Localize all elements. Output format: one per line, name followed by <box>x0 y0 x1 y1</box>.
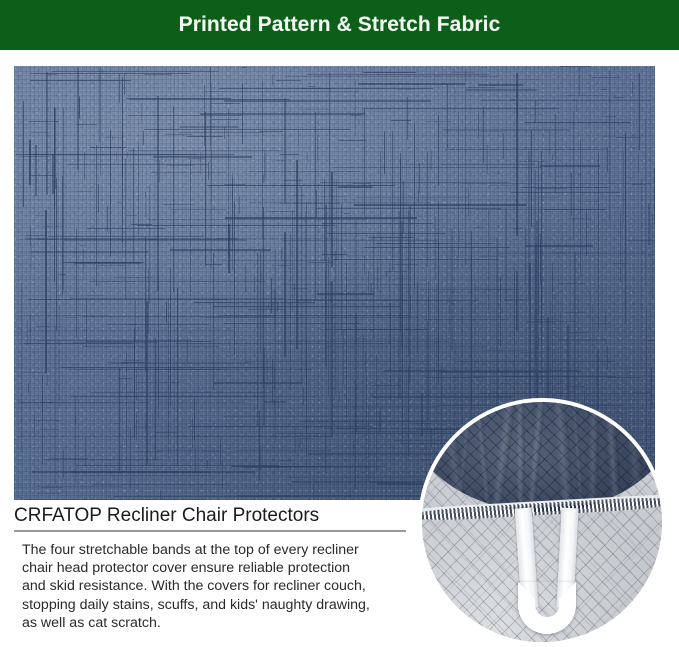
banner-title: Printed Pattern & Stretch Fabric <box>179 13 501 37</box>
caption-divider <box>14 530 406 532</box>
caption-title: CRFATOP Recliner Chair Protectors <box>14 505 406 530</box>
strap-loop-bottom <box>518 582 576 634</box>
fold-crease <box>472 398 493 512</box>
caption-line: chair head protector cover ensure reliab… <box>22 559 398 577</box>
caption-body: The four stretchable bands at the top of… <box>22 541 398 632</box>
fold-crease <box>587 398 600 512</box>
caption-line: stopping daily stains, scuffs, and kids'… <box>22 596 398 614</box>
fold-crease <box>516 398 526 512</box>
caption-line: The four stretchable bands at the top of… <box>22 541 398 559</box>
fold-crease <box>526 398 548 512</box>
closeup-elastic-strap <box>518 508 582 634</box>
caption-line: and skid resistance. With the covers for… <box>22 577 398 595</box>
fold-crease <box>424 398 433 512</box>
banner: Printed Pattern & Stretch Fabric <box>0 0 679 50</box>
fold-crease <box>602 398 623 512</box>
elastic-strap-closeup-circle <box>418 398 666 646</box>
caption-block: CRFATOP Recliner Chair Protectors The fo… <box>14 505 406 632</box>
caption-line: as well as cat scratch. <box>22 614 398 632</box>
